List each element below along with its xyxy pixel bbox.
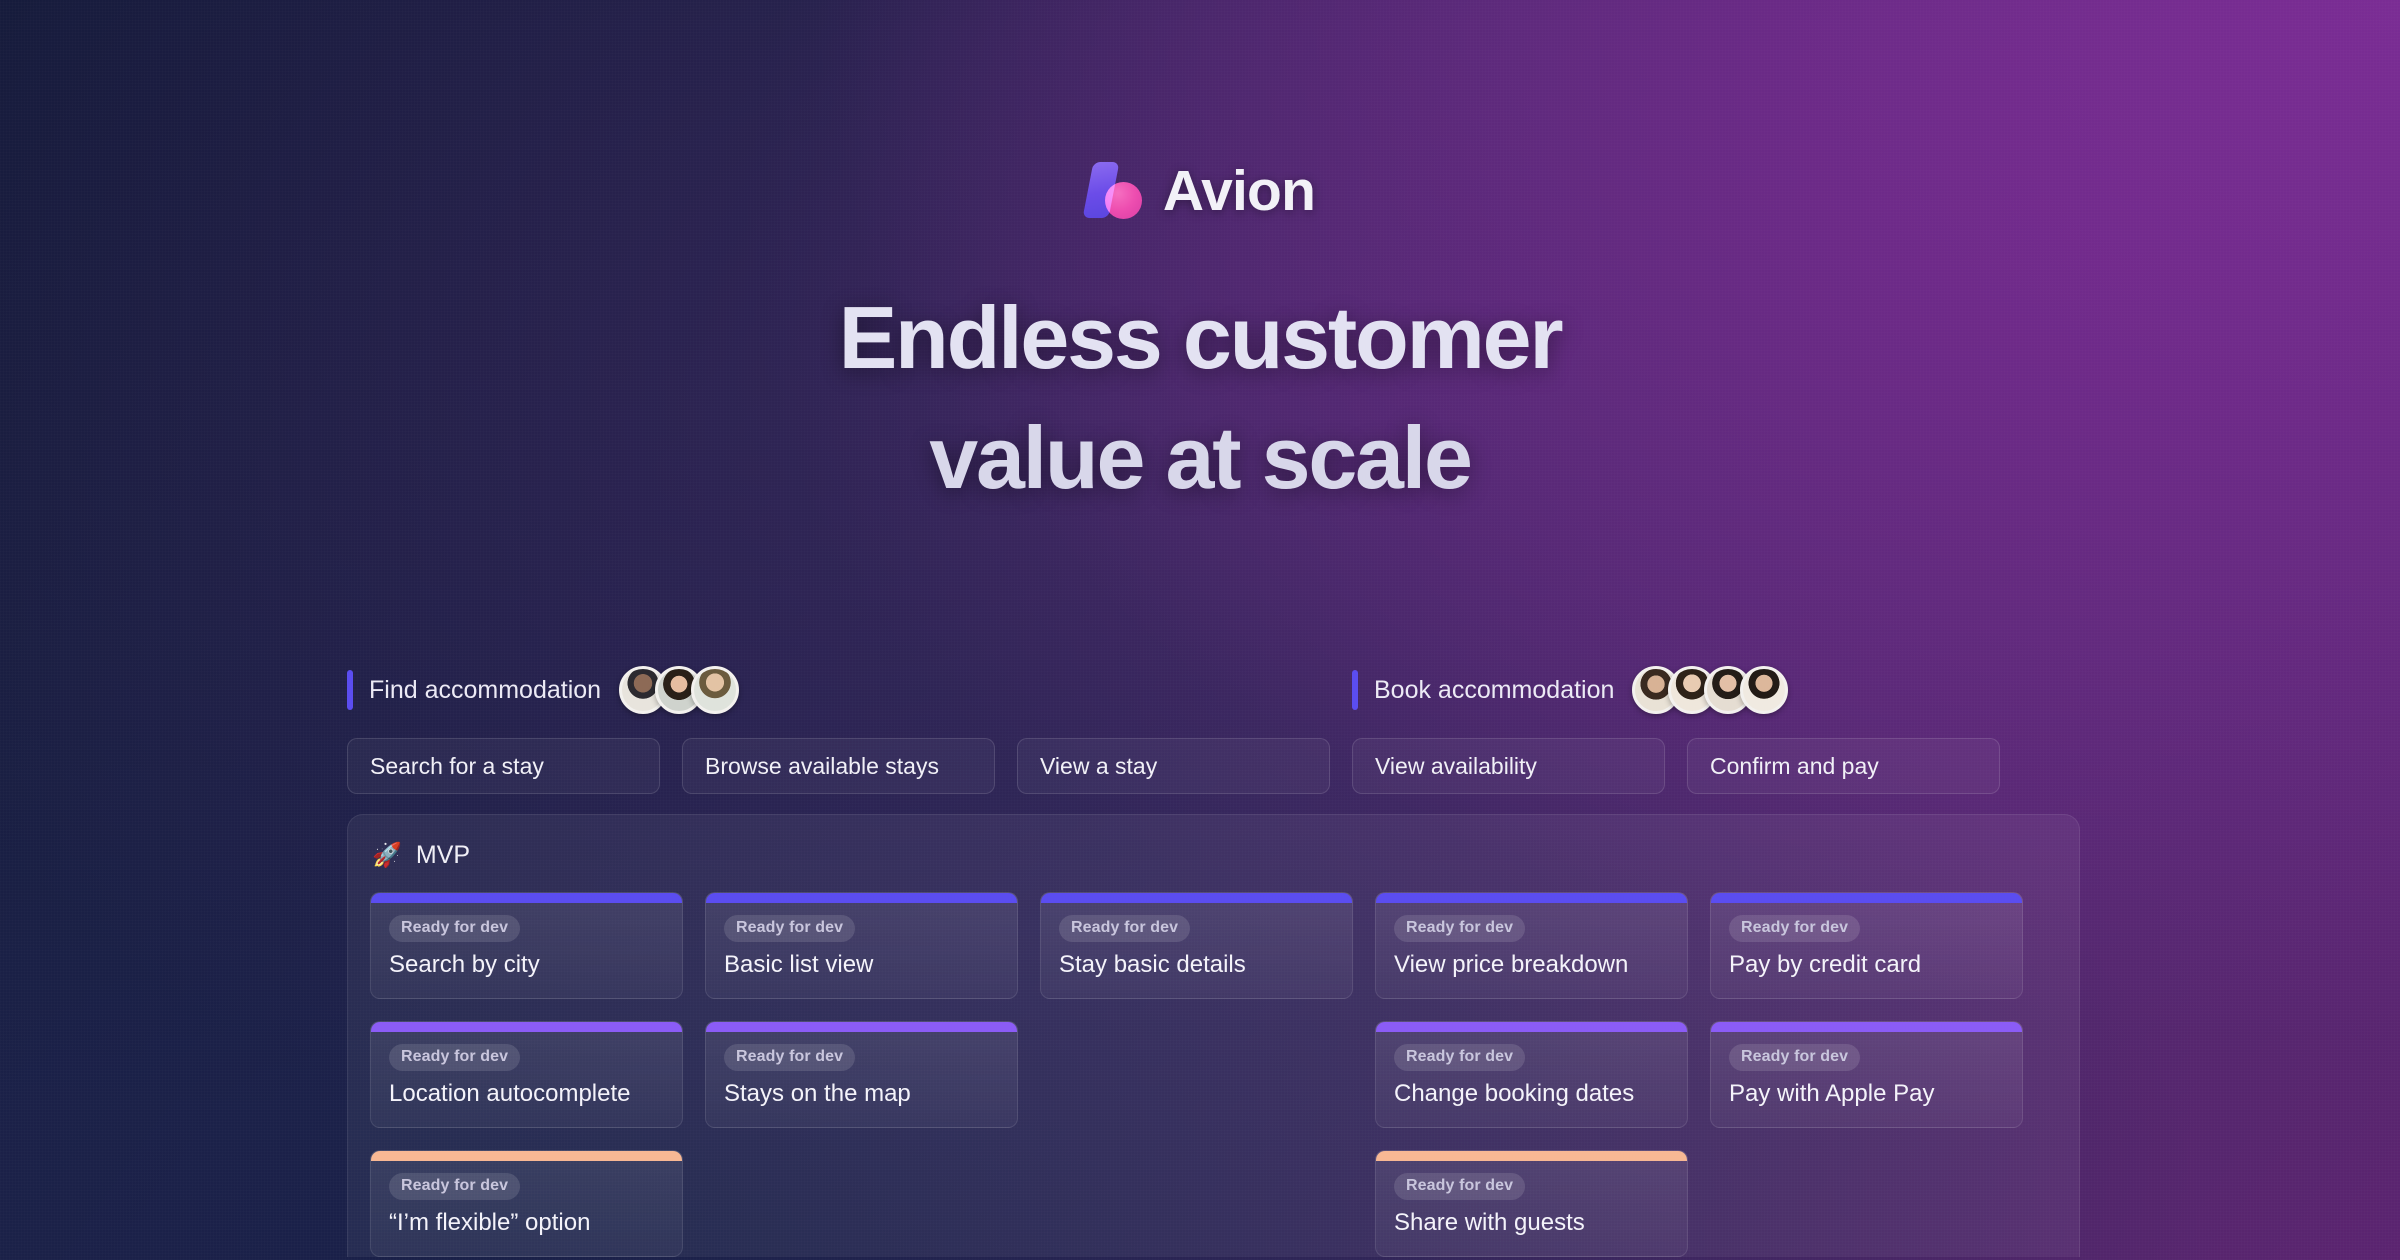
feature-card[interactable]: Ready for dev Search by city xyxy=(370,892,683,999)
headline-line-1: Endless customer xyxy=(839,288,1562,387)
journey-flow: Find accommodation Book accommodation xyxy=(347,660,2080,1257)
avion-logo-icon xyxy=(1085,162,1141,220)
feature-card[interactable]: Ready for dev Share with guests xyxy=(1375,1150,1688,1257)
feature-title: View price breakdown xyxy=(1394,951,1669,979)
group-find-accommodation[interactable]: Find accommodation xyxy=(347,660,1352,720)
card-accent-bar xyxy=(371,1022,682,1032)
mvp-panel: 🚀 MVP Ready for dev Search by city xyxy=(347,814,2080,1257)
step-label: View availability xyxy=(1375,753,1537,780)
card-accent-bar xyxy=(1376,893,1687,903)
step-card-search-for-a-stay[interactable]: Search for a stay xyxy=(347,738,660,794)
status-badge: Ready for dev xyxy=(389,915,520,942)
group-accent-bar xyxy=(347,670,353,710)
feature-title: Stay basic details xyxy=(1059,951,1334,979)
feature-title: Basic list view xyxy=(724,951,999,979)
status-badge: Ready for dev xyxy=(1059,915,1190,942)
feature-title: Pay with Apple Pay xyxy=(1729,1080,2004,1108)
headline-line-2: value at scale xyxy=(0,398,2400,518)
step-card-view-a-stay[interactable]: View a stay xyxy=(1017,738,1330,794)
feature-title: Search by city xyxy=(389,951,664,979)
mvp-panel-title: MVP xyxy=(416,841,470,870)
step-card-confirm-and-pay[interactable]: Confirm and pay xyxy=(1687,738,2000,794)
feature-column-1: Ready for dev Search by city Ready for d… xyxy=(370,892,683,1257)
feature-card[interactable]: Ready for dev Stays on the map xyxy=(705,1021,1018,1128)
feature-title: Location autocomplete xyxy=(389,1080,664,1108)
feature-title: Share with guests xyxy=(1394,1209,1669,1237)
brand-lockup: Avion xyxy=(0,158,2400,224)
group-header-row: Find accommodation Book accommodation xyxy=(347,660,2080,720)
step-label: Confirm and pay xyxy=(1710,753,1879,780)
feature-column-5: Ready for dev Pay by credit card Ready f… xyxy=(1710,892,2023,1257)
feature-card[interactable]: Ready for dev Basic list view xyxy=(705,892,1018,999)
feature-card[interactable]: Ready for dev Pay with Apple Pay xyxy=(1710,1021,2023,1128)
status-badge: Ready for dev xyxy=(1394,915,1525,942)
mvp-panel-header: 🚀 MVP xyxy=(370,841,2057,870)
rocket-icon: 🚀 xyxy=(372,844,402,868)
group-label: Find accommodation xyxy=(369,676,601,705)
feature-card[interactable]: Ready for dev “I’m flexible” option xyxy=(370,1150,683,1257)
avatar-stack xyxy=(619,666,739,714)
feature-card[interactable]: Ready for dev Pay by credit card xyxy=(1710,892,2023,999)
status-badge: Ready for dev xyxy=(724,915,855,942)
card-accent-bar xyxy=(706,1022,1017,1032)
feature-title: Stays on the map xyxy=(724,1080,999,1108)
feature-card[interactable]: Ready for dev View price breakdown xyxy=(1375,892,1688,999)
feature-title: “I’m flexible” option xyxy=(389,1209,664,1237)
card-accent-bar xyxy=(1041,893,1352,903)
step-label: Search for a stay xyxy=(370,753,544,780)
step-row: Search for a stay Browse available stays… xyxy=(347,738,2080,794)
group-accent-bar xyxy=(1352,670,1358,710)
page-background: Avion Endless customer value at scale Fi… xyxy=(0,0,2400,1260)
page-title: Endless customer value at scale xyxy=(0,278,2400,518)
brand-name: Avion xyxy=(1163,158,1315,224)
card-accent-bar xyxy=(371,1151,682,1161)
status-badge: Ready for dev xyxy=(389,1173,520,1200)
status-badge: Ready for dev xyxy=(1729,915,1860,942)
feature-card[interactable]: Ready for dev Stay basic details xyxy=(1040,892,1353,999)
card-accent-bar xyxy=(371,893,682,903)
card-accent-bar xyxy=(1711,893,2022,903)
feature-column-3: Ready for dev Stay basic details xyxy=(1040,892,1353,1257)
step-label: View a stay xyxy=(1040,753,1157,780)
group-book-accommodation[interactable]: Book accommodation xyxy=(1352,660,1788,720)
avatar-stack xyxy=(1632,666,1788,714)
step-label: Browse available stays xyxy=(705,753,939,780)
feature-column-4: Ready for dev View price breakdown Ready… xyxy=(1375,892,1688,1257)
step-card-browse-available-stays[interactable]: Browse available stays xyxy=(682,738,995,794)
feature-card[interactable]: Ready for dev Change booking dates xyxy=(1375,1021,1688,1128)
status-badge: Ready for dev xyxy=(1729,1044,1860,1071)
card-accent-bar xyxy=(1376,1151,1687,1161)
status-badge: Ready for dev xyxy=(1394,1044,1525,1071)
feature-card[interactable]: Ready for dev Location autocomplete xyxy=(370,1021,683,1128)
feature-title: Pay by credit card xyxy=(1729,951,2004,979)
avatar xyxy=(691,666,739,714)
feature-column-2: Ready for dev Basic list view Ready for … xyxy=(705,892,1018,1257)
status-badge: Ready for dev xyxy=(724,1044,855,1071)
avatar xyxy=(1740,666,1788,714)
card-accent-bar xyxy=(1711,1022,2022,1032)
logo-dot-shape xyxy=(1105,182,1142,219)
status-badge: Ready for dev xyxy=(1394,1173,1525,1200)
status-badge: Ready for dev xyxy=(389,1044,520,1071)
feature-title: Change booking dates xyxy=(1394,1080,1669,1108)
feature-grid: Ready for dev Search by city Ready for d… xyxy=(370,892,2057,1257)
card-accent-bar xyxy=(1376,1022,1687,1032)
card-accent-bar xyxy=(706,893,1017,903)
group-label: Book accommodation xyxy=(1374,676,1614,705)
step-card-view-availability[interactable]: View availability xyxy=(1352,738,1665,794)
